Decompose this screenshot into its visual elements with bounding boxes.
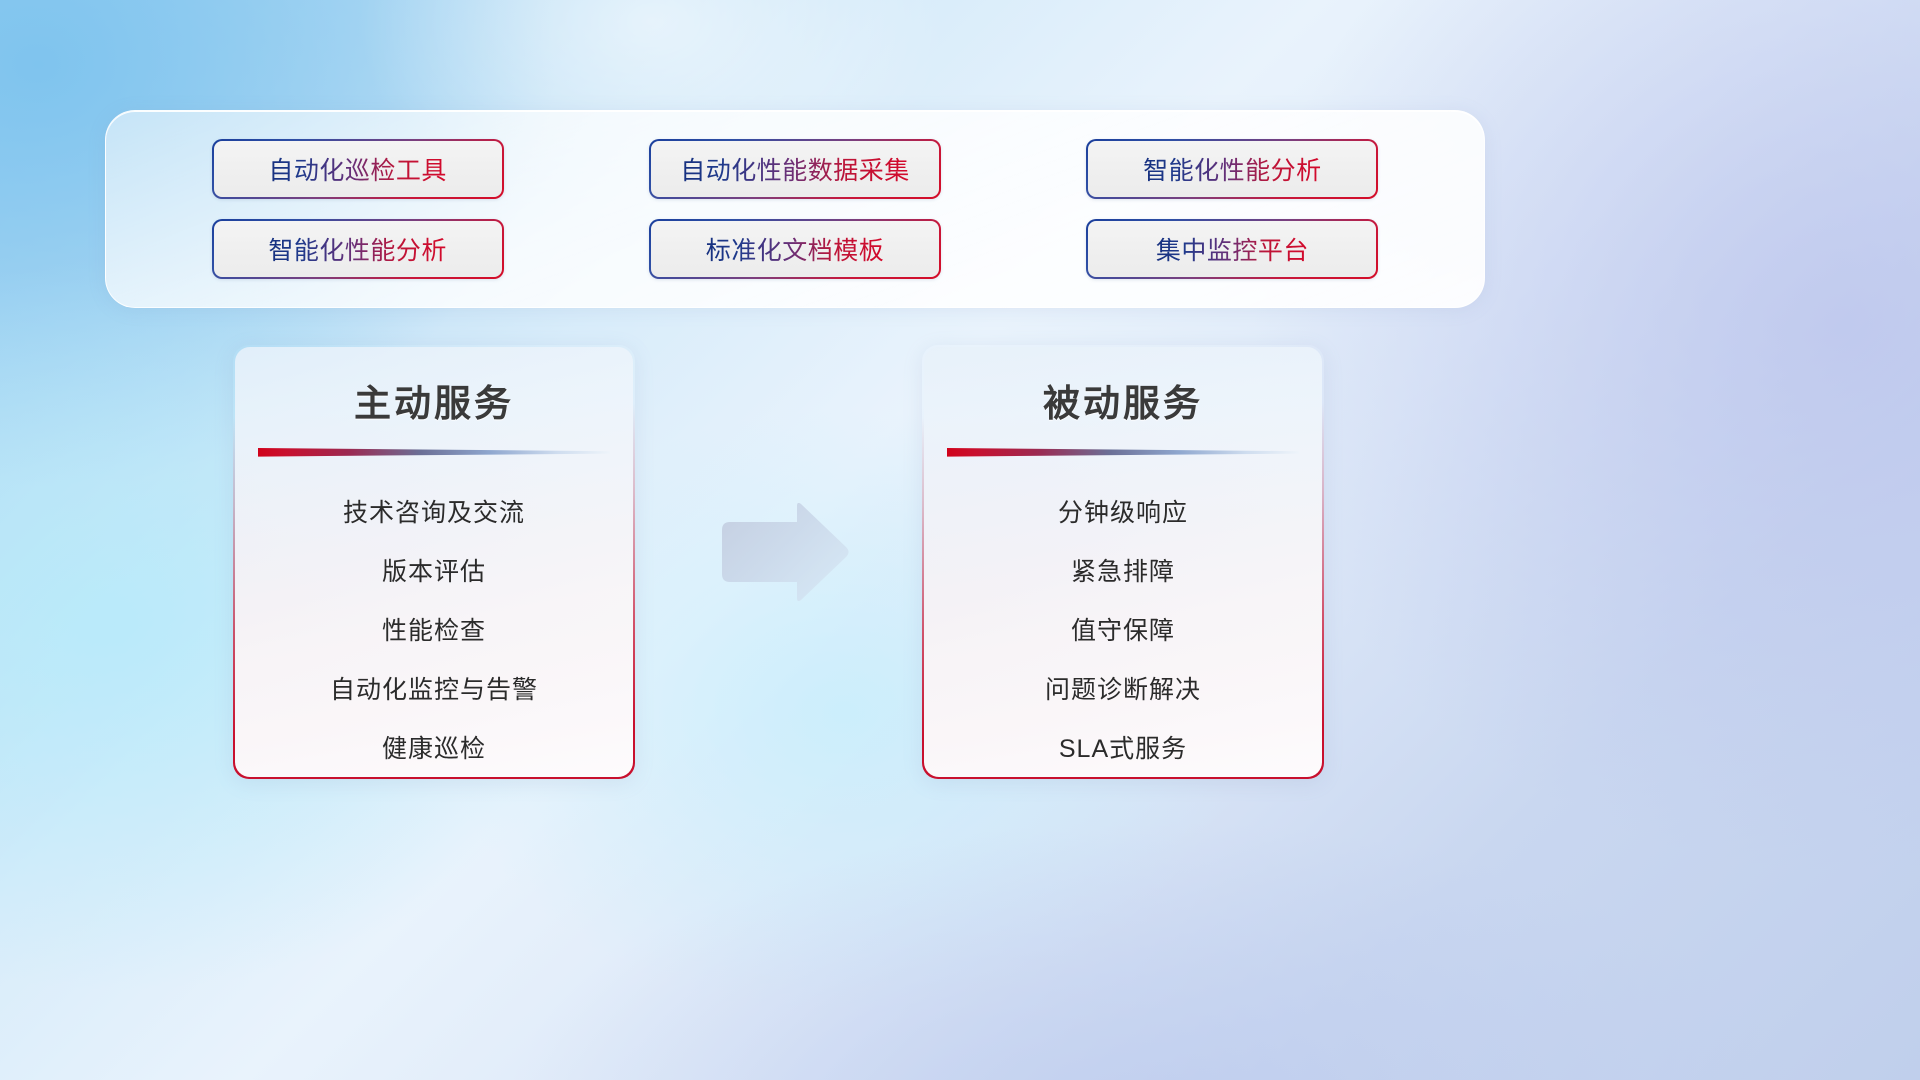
capability-pill-5[interactable]: 标准化文档模板 [649,219,941,279]
list-item: 技术咨询及交流 [343,482,525,541]
capability-pill-5-label: 标准化文档模板 [706,231,885,267]
capability-pill-4-label: 智能化性能分析 [268,231,447,267]
capabilities-panel: 自动化巡检工具 自动化性能数据采集 智能化性能分析 智能化性能分析 标准化文档模… [105,110,1485,308]
list-item: 紧急排障 [1071,541,1175,600]
service-card-reactive: 被动服务 [922,345,1324,779]
service-card-reactive-title: 被动服务 [1043,373,1203,427]
service-card-reactive-inner: 被动服务 [924,347,1323,778]
list-item: 版本评估 [382,541,486,600]
capability-pill-1[interactable]: 自动化巡检工具 [212,139,504,199]
list-item: 性能检查 [382,600,486,659]
arrow-right-icon [714,503,850,601]
capability-pill-5-inner: 标准化文档模板 [651,221,939,277]
capability-pill-4-inner: 智能化性能分析 [214,221,502,277]
service-card-proactive: 主动服务 [233,345,635,779]
title-divider [258,447,610,460]
list-item: SLA式服务 [1059,718,1187,777]
capability-pill-3-inner: 智能化性能分析 [1088,141,1376,197]
capability-pill-1-label: 自动化巡检工具 [268,151,447,187]
capability-pill-6-inner: 集中监控平台 [1088,221,1376,277]
capability-pill-6-label: 集中监控平台 [1156,231,1309,267]
list-item: 问题诊断解决 [1045,659,1201,718]
list-item: 健康巡检 [382,718,486,777]
capability-pill-1-inner: 自动化巡检工具 [214,141,502,197]
service-card-proactive-list: 技术咨询及交流 版本评估 性能检查 自动化监控与告警 健康巡检 [255,482,614,777]
capability-pill-2[interactable]: 自动化性能数据采集 [649,139,941,199]
list-item: 分钟级响应 [1058,482,1188,541]
list-item: 自动化监控与告警 [330,659,538,718]
service-card-proactive-title: 主动服务 [354,373,514,427]
capability-pill-2-inner: 自动化性能数据采集 [651,141,939,197]
capability-pill-4[interactable]: 智能化性能分析 [212,219,504,279]
capability-pill-3[interactable]: 智能化性能分析 [1086,139,1378,199]
capability-pill-2-label: 自动化性能数据采集 [680,151,910,187]
title-divider [947,447,1299,460]
capability-pill-3-label: 智能化性能分析 [1143,151,1322,187]
list-item: 值守保障 [1071,600,1175,659]
service-card-proactive-inner: 主动服务 [235,347,634,778]
service-card-reactive-list: 分钟级响应 紧急排障 值守保障 问题诊断解决 SLA式服务 [944,482,1303,777]
capability-pill-6[interactable]: 集中监控平台 [1086,219,1378,279]
